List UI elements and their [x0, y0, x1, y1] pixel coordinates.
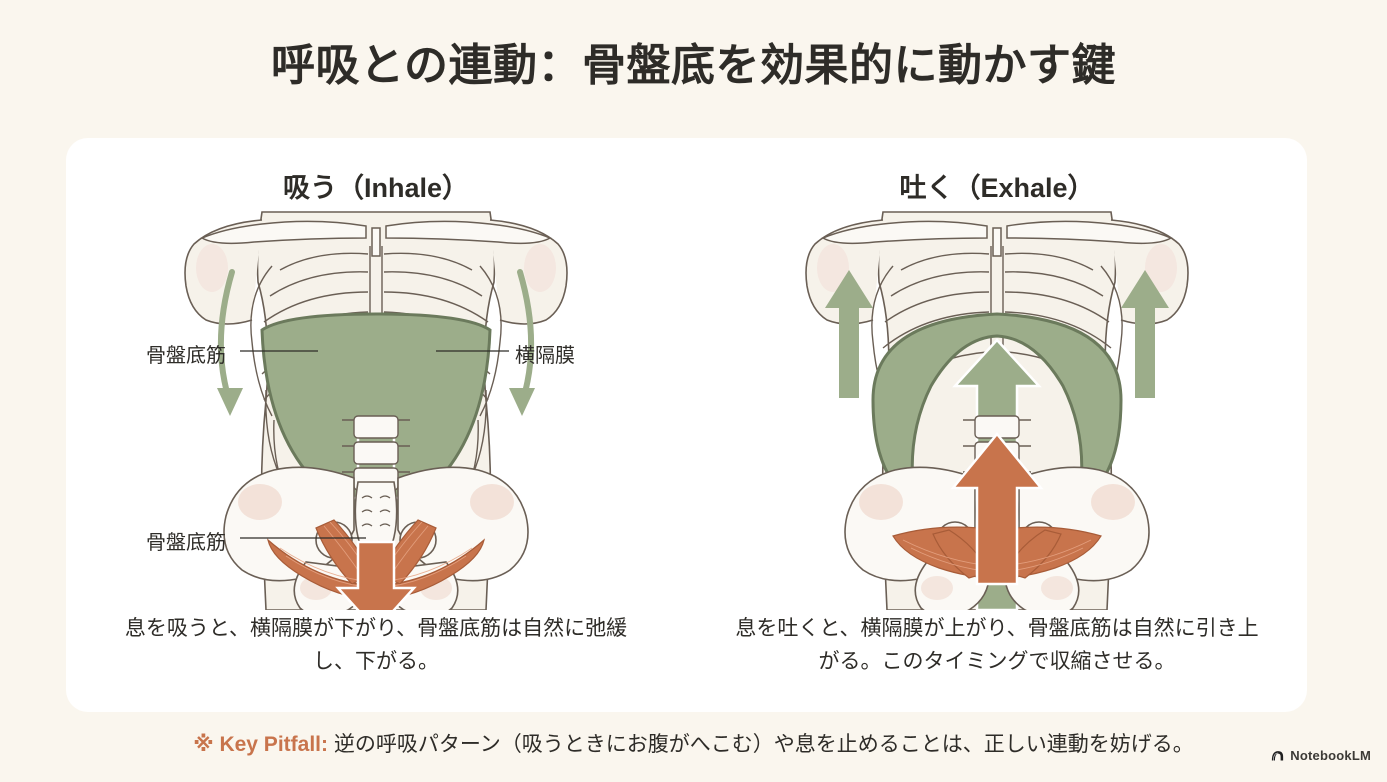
- slide-root: 呼吸との連動：骨盤底を効果的に動かす鍵 吸う（Inhale）: [0, 0, 1387, 782]
- exhale-anatomy-svg: [687, 210, 1307, 610]
- exhale-caption: 息を吐くと、横隔膜が上がり、骨盤底筋は自然に引き上がる。このタイミングで収縮させ…: [735, 613, 1259, 678]
- notebooklm-brand-name: NotebookLM: [1290, 748, 1371, 763]
- exhale-anatomy-figure: [687, 210, 1307, 610]
- label-pelvic-floor-upper: 骨盤底筋: [146, 339, 226, 368]
- label-diaphragm: 横隔膜: [515, 339, 575, 368]
- panel-inhale: 吸う（Inhale）: [66, 138, 686, 712]
- key-pitfall-note: ※ Key Pitfall: 逆の呼吸パターン（吸うときにお腹がへこむ）や息を止…: [0, 728, 1387, 758]
- inhale-caption: 息を吸うと、横隔膜が下がり、骨盤底筋は自然に弛緩し、下がる。: [114, 613, 638, 678]
- panel-exhale: 吐く（Exhale）: [687, 138, 1307, 712]
- page-title: 呼吸との連動：骨盤底を効果的に動かす鍵: [0, 40, 1387, 93]
- notebooklm-brand: NotebookLM: [1270, 748, 1371, 763]
- notebooklm-logo-icon: [1270, 748, 1285, 763]
- label-pelvic-floor-lower: 骨盤底筋: [146, 526, 226, 555]
- key-pitfall-label: ※ Key Pitfall:: [193, 733, 328, 756]
- content-card: 吸う（Inhale）: [66, 138, 1307, 712]
- key-pitfall-text: 逆の呼吸パターン（吸うときにお腹がへこむ）や息を止めることは、正しい連動を妨げる…: [334, 733, 1194, 756]
- panel-exhale-heading: 吐く（Exhale）: [687, 166, 1307, 205]
- panel-inhale-heading: 吸う（Inhale）: [66, 166, 686, 205]
